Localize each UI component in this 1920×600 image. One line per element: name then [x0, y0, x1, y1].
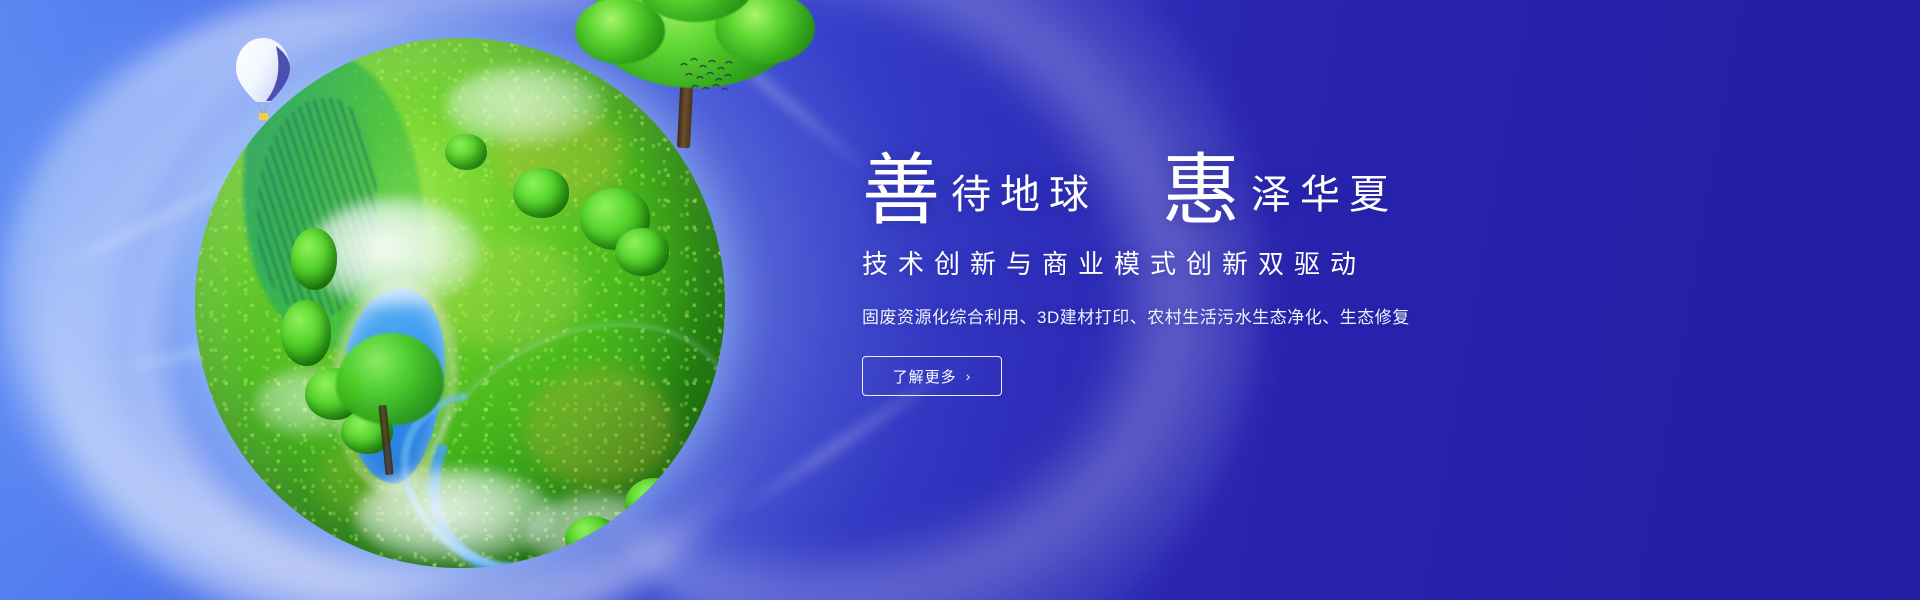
- cloud-wisp: [92, 293, 447, 382]
- cloud-icon: [445, 66, 605, 146]
- tree-bush-icon: [565, 516, 619, 560]
- tree-bush-icon: [305, 368, 363, 420]
- cloud-swirl-icon: [0, 0, 650, 600]
- tree-canopy: [336, 333, 444, 425]
- cloud-wisp: [40, 161, 270, 281]
- hero-content: 善 待地球 惠 泽华夏 技术创新与商业模式创新双驱动 固废资源化综合利用、3D建…: [862, 128, 1762, 396]
- lake-icon: [333, 283, 453, 487]
- forest-ridge-texture: [257, 98, 377, 318]
- tree-bush-icon: [291, 228, 337, 290]
- lake-shore: [320, 270, 468, 502]
- headline-segment-2-big: 惠: [1162, 152, 1241, 230]
- cloud-icon: [307, 198, 482, 308]
- tree-icon: [635, 0, 755, 22]
- page-subtitle: 技术创新与商业模式创新双驱动: [862, 244, 1762, 281]
- hero-banner: 善 待地球 惠 泽华夏 技术创新与商业模式创新双驱动 固废资源化综合利用、3D建…: [0, 0, 1920, 600]
- tree-bush-icon: [615, 228, 669, 276]
- tree-icon: [330, 333, 450, 483]
- tree-bush-icon: [513, 168, 569, 218]
- learn-more-button[interactable]: 了解更多 ›: [862, 356, 1002, 396]
- cloud-wisp: [201, 404, 509, 552]
- dry-grass-patch: [525, 368, 675, 488]
- headline-segment-1-big: 善: [862, 152, 941, 230]
- tree-bush-icon: [445, 134, 487, 170]
- cloud-icon: [525, 493, 675, 568]
- cloud-icon: [355, 468, 555, 563]
- headline-segment-1-small: 待地球: [941, 175, 1098, 215]
- river-icon: [366, 355, 630, 568]
- learn-more-label: 了解更多: [893, 366, 957, 387]
- tree-bush-icon: [281, 300, 331, 366]
- cta-row: 了解更多 ›: [862, 356, 1762, 396]
- cloud-wisp: [669, 2, 892, 192]
- tree-bush-icon: [341, 410, 393, 454]
- tree-icon: [715, 0, 815, 64]
- hot-air-balloon-icon: [232, 36, 294, 124]
- dry-grass-patch: [495, 108, 625, 203]
- cloud-swirl-icon: [53, 0, 767, 600]
- river-icon: [384, 276, 725, 568]
- cloud-icon: [255, 368, 365, 438]
- tree-bush-icon: [580, 188, 650, 250]
- tree-bush-icon: [625, 478, 685, 528]
- bird-flock-icon: [678, 56, 738, 96]
- dry-grass-patch: [315, 438, 435, 523]
- headline-segment-2-small: 泽华夏: [1241, 175, 1398, 215]
- chevron-right-icon: ›: [966, 369, 972, 383]
- tree-icon: [575, 0, 665, 64]
- cloud-wisp: [174, 33, 426, 222]
- dry-grass-patch: [425, 238, 585, 348]
- page-title: 善 待地球 惠 泽华夏: [862, 128, 1762, 224]
- page-description: 固废资源化综合利用、3D建材打印、农村生活污水生态净化、生态修复: [862, 303, 1762, 328]
- tree-trunk: [378, 405, 393, 475]
